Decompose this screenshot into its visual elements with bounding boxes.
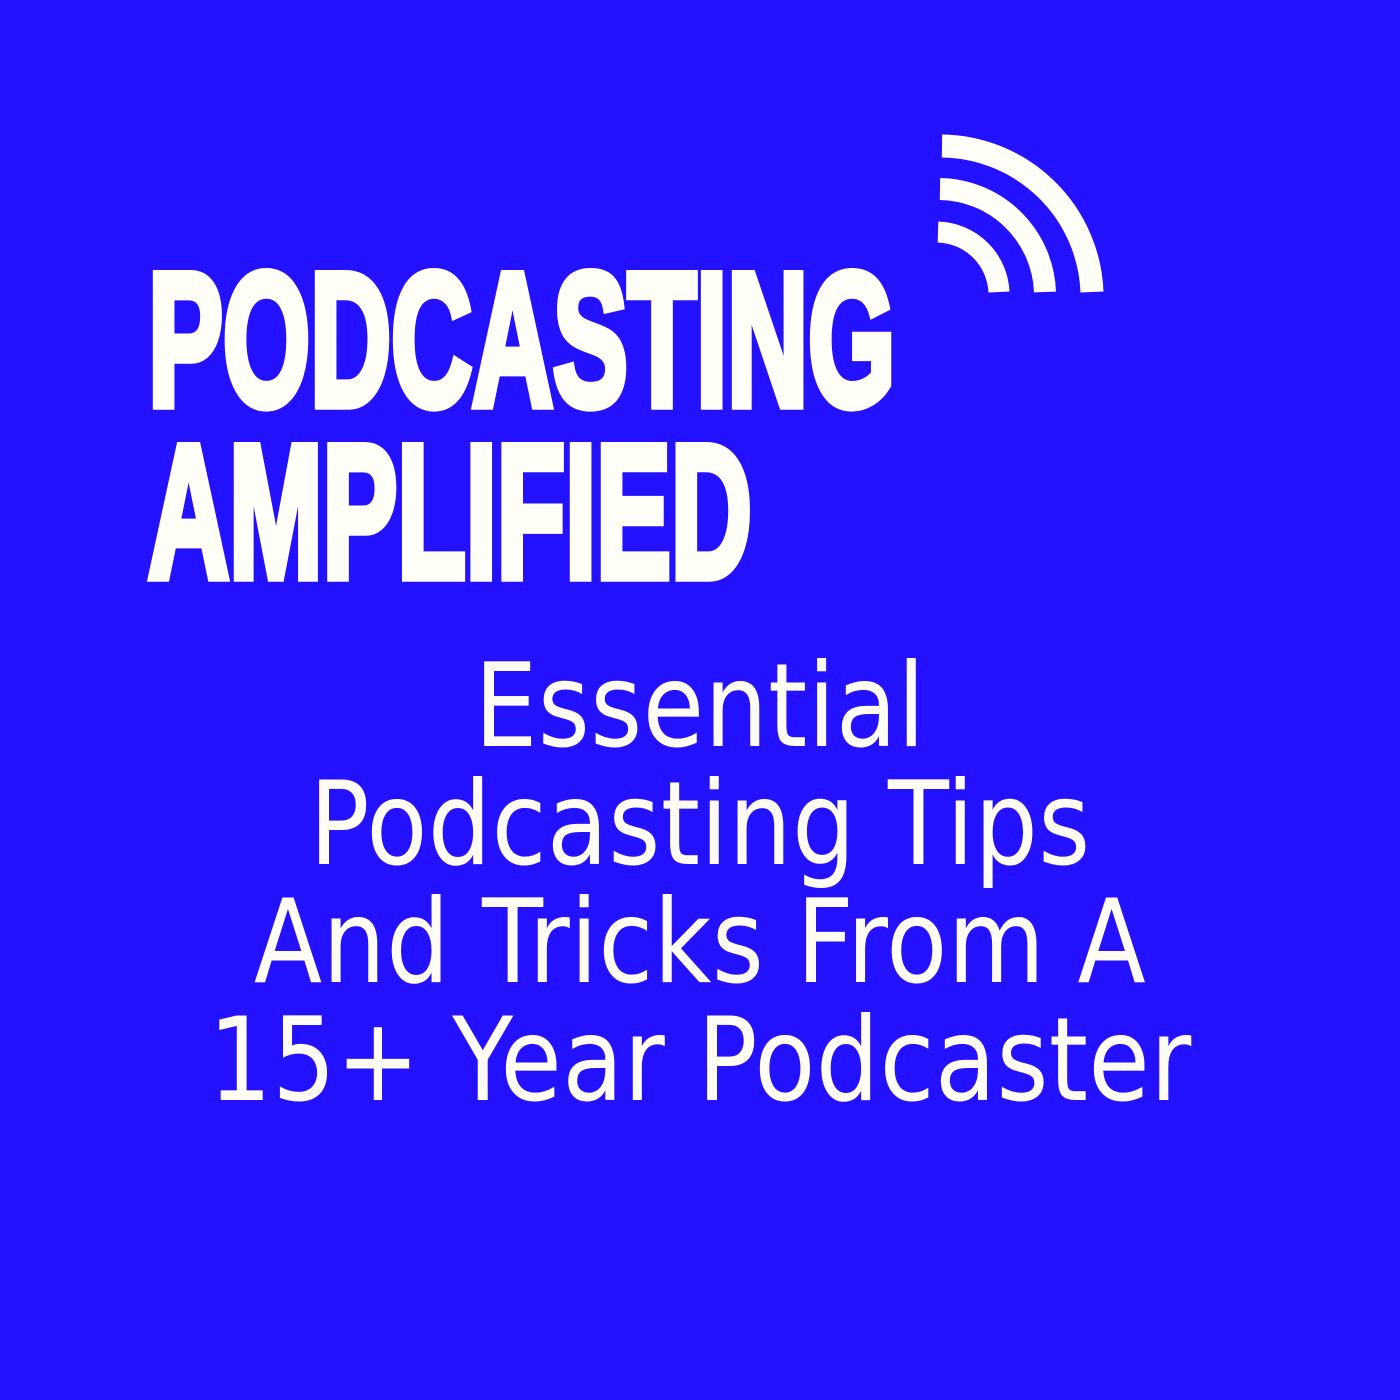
- broadcast-waves-icon: [920, 132, 1106, 302]
- subtitle-line-3: And Tricks From A: [132, 884, 1267, 1002]
- subtitle-line-1: Essential: [132, 648, 1267, 766]
- podcast-cover-art: PODCASTING AMPLIFIED Essential Podcastin…: [0, 0, 1400, 1400]
- subtitle-line-4: 15+ Year Podcaster: [132, 1002, 1267, 1120]
- episode-subtitle: Essential Podcasting Tips And Tricks Fro…: [0, 648, 1400, 1120]
- subtitle-line-2: Podcasting Tips: [132, 766, 1267, 884]
- broadcast-arc-inner: [938, 232, 999, 292]
- logo-title-line-amplified: AMPLIFIED: [148, 418, 752, 608]
